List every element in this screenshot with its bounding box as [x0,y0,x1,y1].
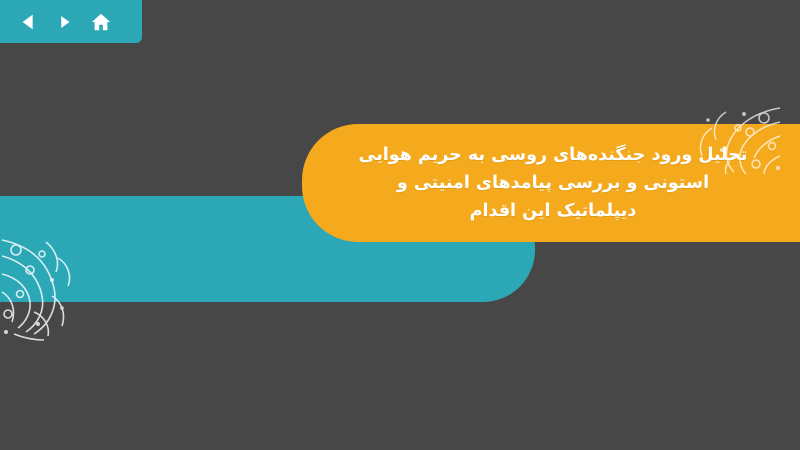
next-slide-button[interactable] [48,5,82,39]
slide-title: تحلیل ورود جنگنده‌های روسی به حریم هوایی… [318,130,788,236]
slide-navigation-toolbar [0,0,142,43]
slide-viewer: تحلیل ورود جنگنده‌های روسی به حریم هوایی… [0,0,800,450]
previous-slide-button[interactable] [12,5,46,39]
home-slide-button[interactable] [84,5,118,39]
triangle-left-icon [18,11,40,33]
triangle-right-icon [56,13,74,31]
home-icon [90,11,112,33]
